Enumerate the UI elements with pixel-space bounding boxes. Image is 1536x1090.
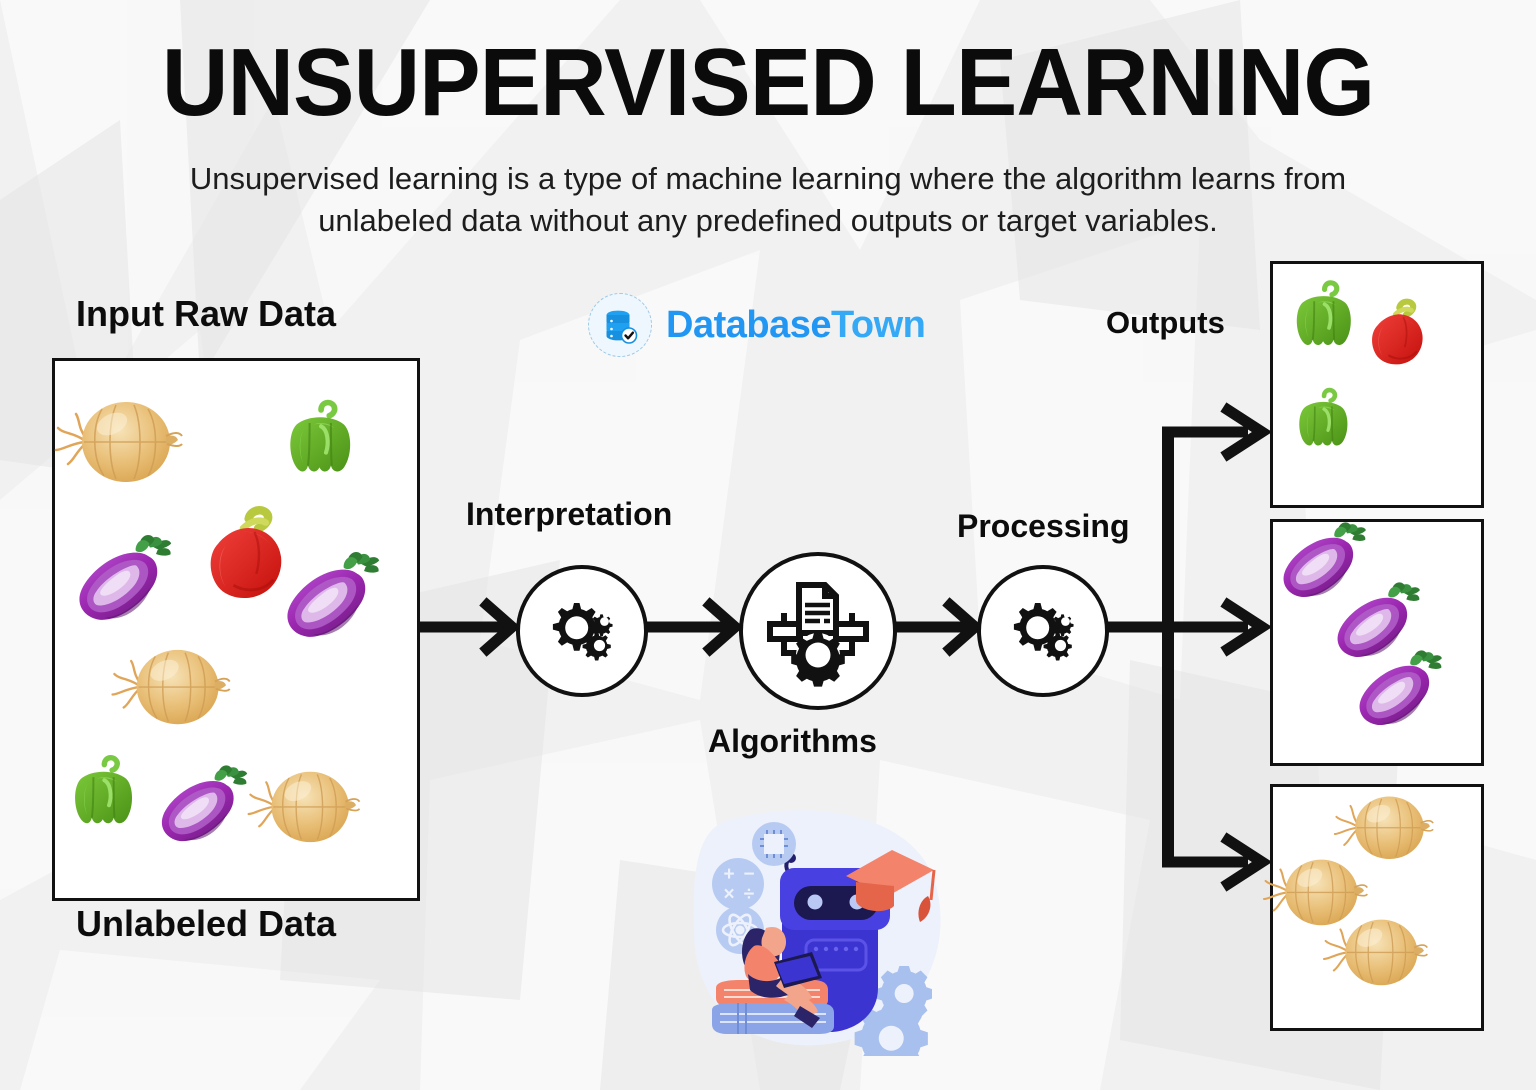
infographic-root: UNSUPERVISED LEARNING Unsupervised learn…: [0, 0, 1536, 1090]
gears-icon: [997, 585, 1089, 677]
svg-text:×: ×: [723, 884, 734, 905]
stage-processing[interactable]: [977, 565, 1109, 697]
svg-text:+: +: [723, 864, 734, 885]
ai-robot-learning-illustration: +− ×÷: [688, 806, 960, 1056]
svg-text:−: −: [743, 864, 754, 885]
stage-interpretation[interactable]: [516, 565, 648, 697]
document-flowchart-gear-icon: [762, 575, 874, 687]
svg-text:÷: ÷: [744, 884, 754, 905]
stage-algorithms[interactable]: [739, 552, 897, 710]
math-symbols-icon: +− ×÷: [712, 858, 764, 910]
gears-icon: [536, 585, 628, 677]
